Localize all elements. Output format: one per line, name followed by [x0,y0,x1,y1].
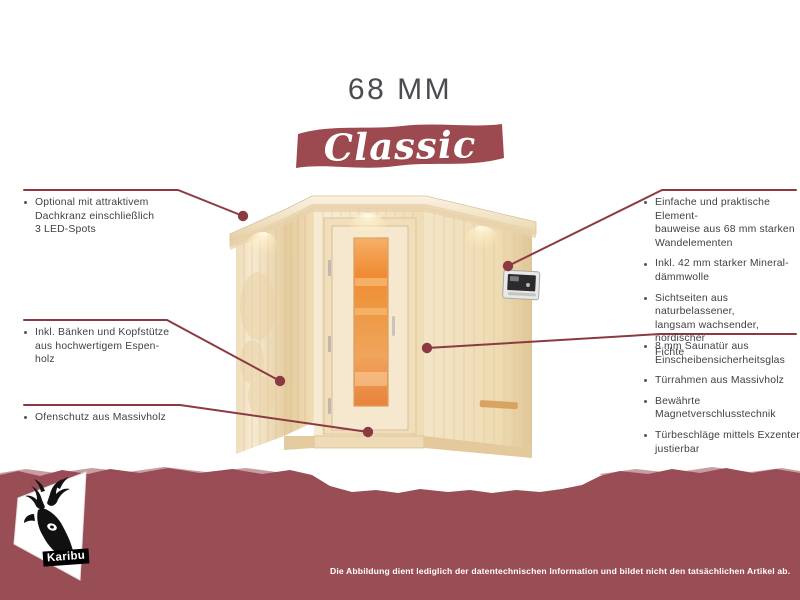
karibu-wordmark: Karibu [43,548,90,566]
callout-line: Bewährte Magnetverschlusstechnik [642,395,800,422]
karibu-logo: Karibu [12,470,110,582]
footer-disclaimer: Die Abbildung dient lediglich der datent… [330,566,795,576]
callout-line: Optional mit attraktivem Dachkranz einsc… [22,196,227,237]
callout-line: Ofenschutz aus Massivholz [22,411,227,425]
callout-line: Inkl. 42 mm starker Mineral- dämmwolle [642,257,800,284]
sauna-control-panel-graphic [503,270,540,300]
door-hinge-bottom [328,398,331,414]
product-badge-label: Classic [291,115,508,175]
callout-oven-guard: Ofenschutz aus Massivholz [22,411,227,432]
door-hinge-top [328,260,331,276]
callout-door-specs: 8 mm Saunatür aus Einscheibensicherheits… [642,340,800,463]
door-handle [392,316,395,336]
sauna-cabin-illustration [228,186,558,476]
callout-line: Türbeschläge mittels Exzenter justierbar [642,429,800,456]
product-badge: Classic [292,118,508,173]
page-title-thickness: 68 MM [0,73,800,107]
door-hinge-mid [328,336,331,352]
callout-roof-crown: Optional mit attraktivem Dachkranz einsc… [22,196,227,244]
callout-line: Türrahmen aus Massivholz [642,374,800,388]
callout-line: Einfache und praktische Element- bauweis… [642,196,800,250]
callout-line: 8 mm Saunatür aus Einscheibensicherheits… [642,340,800,367]
callout-benches: Inkl. Bänken und Kopfstütze aus hochwert… [22,326,227,374]
infographic-canvas: 68 MM Classic Optional mit attraktivem D… [0,0,800,600]
callout-line: Inkl. Bänken und Kopfstütze aus hochwert… [22,326,227,367]
